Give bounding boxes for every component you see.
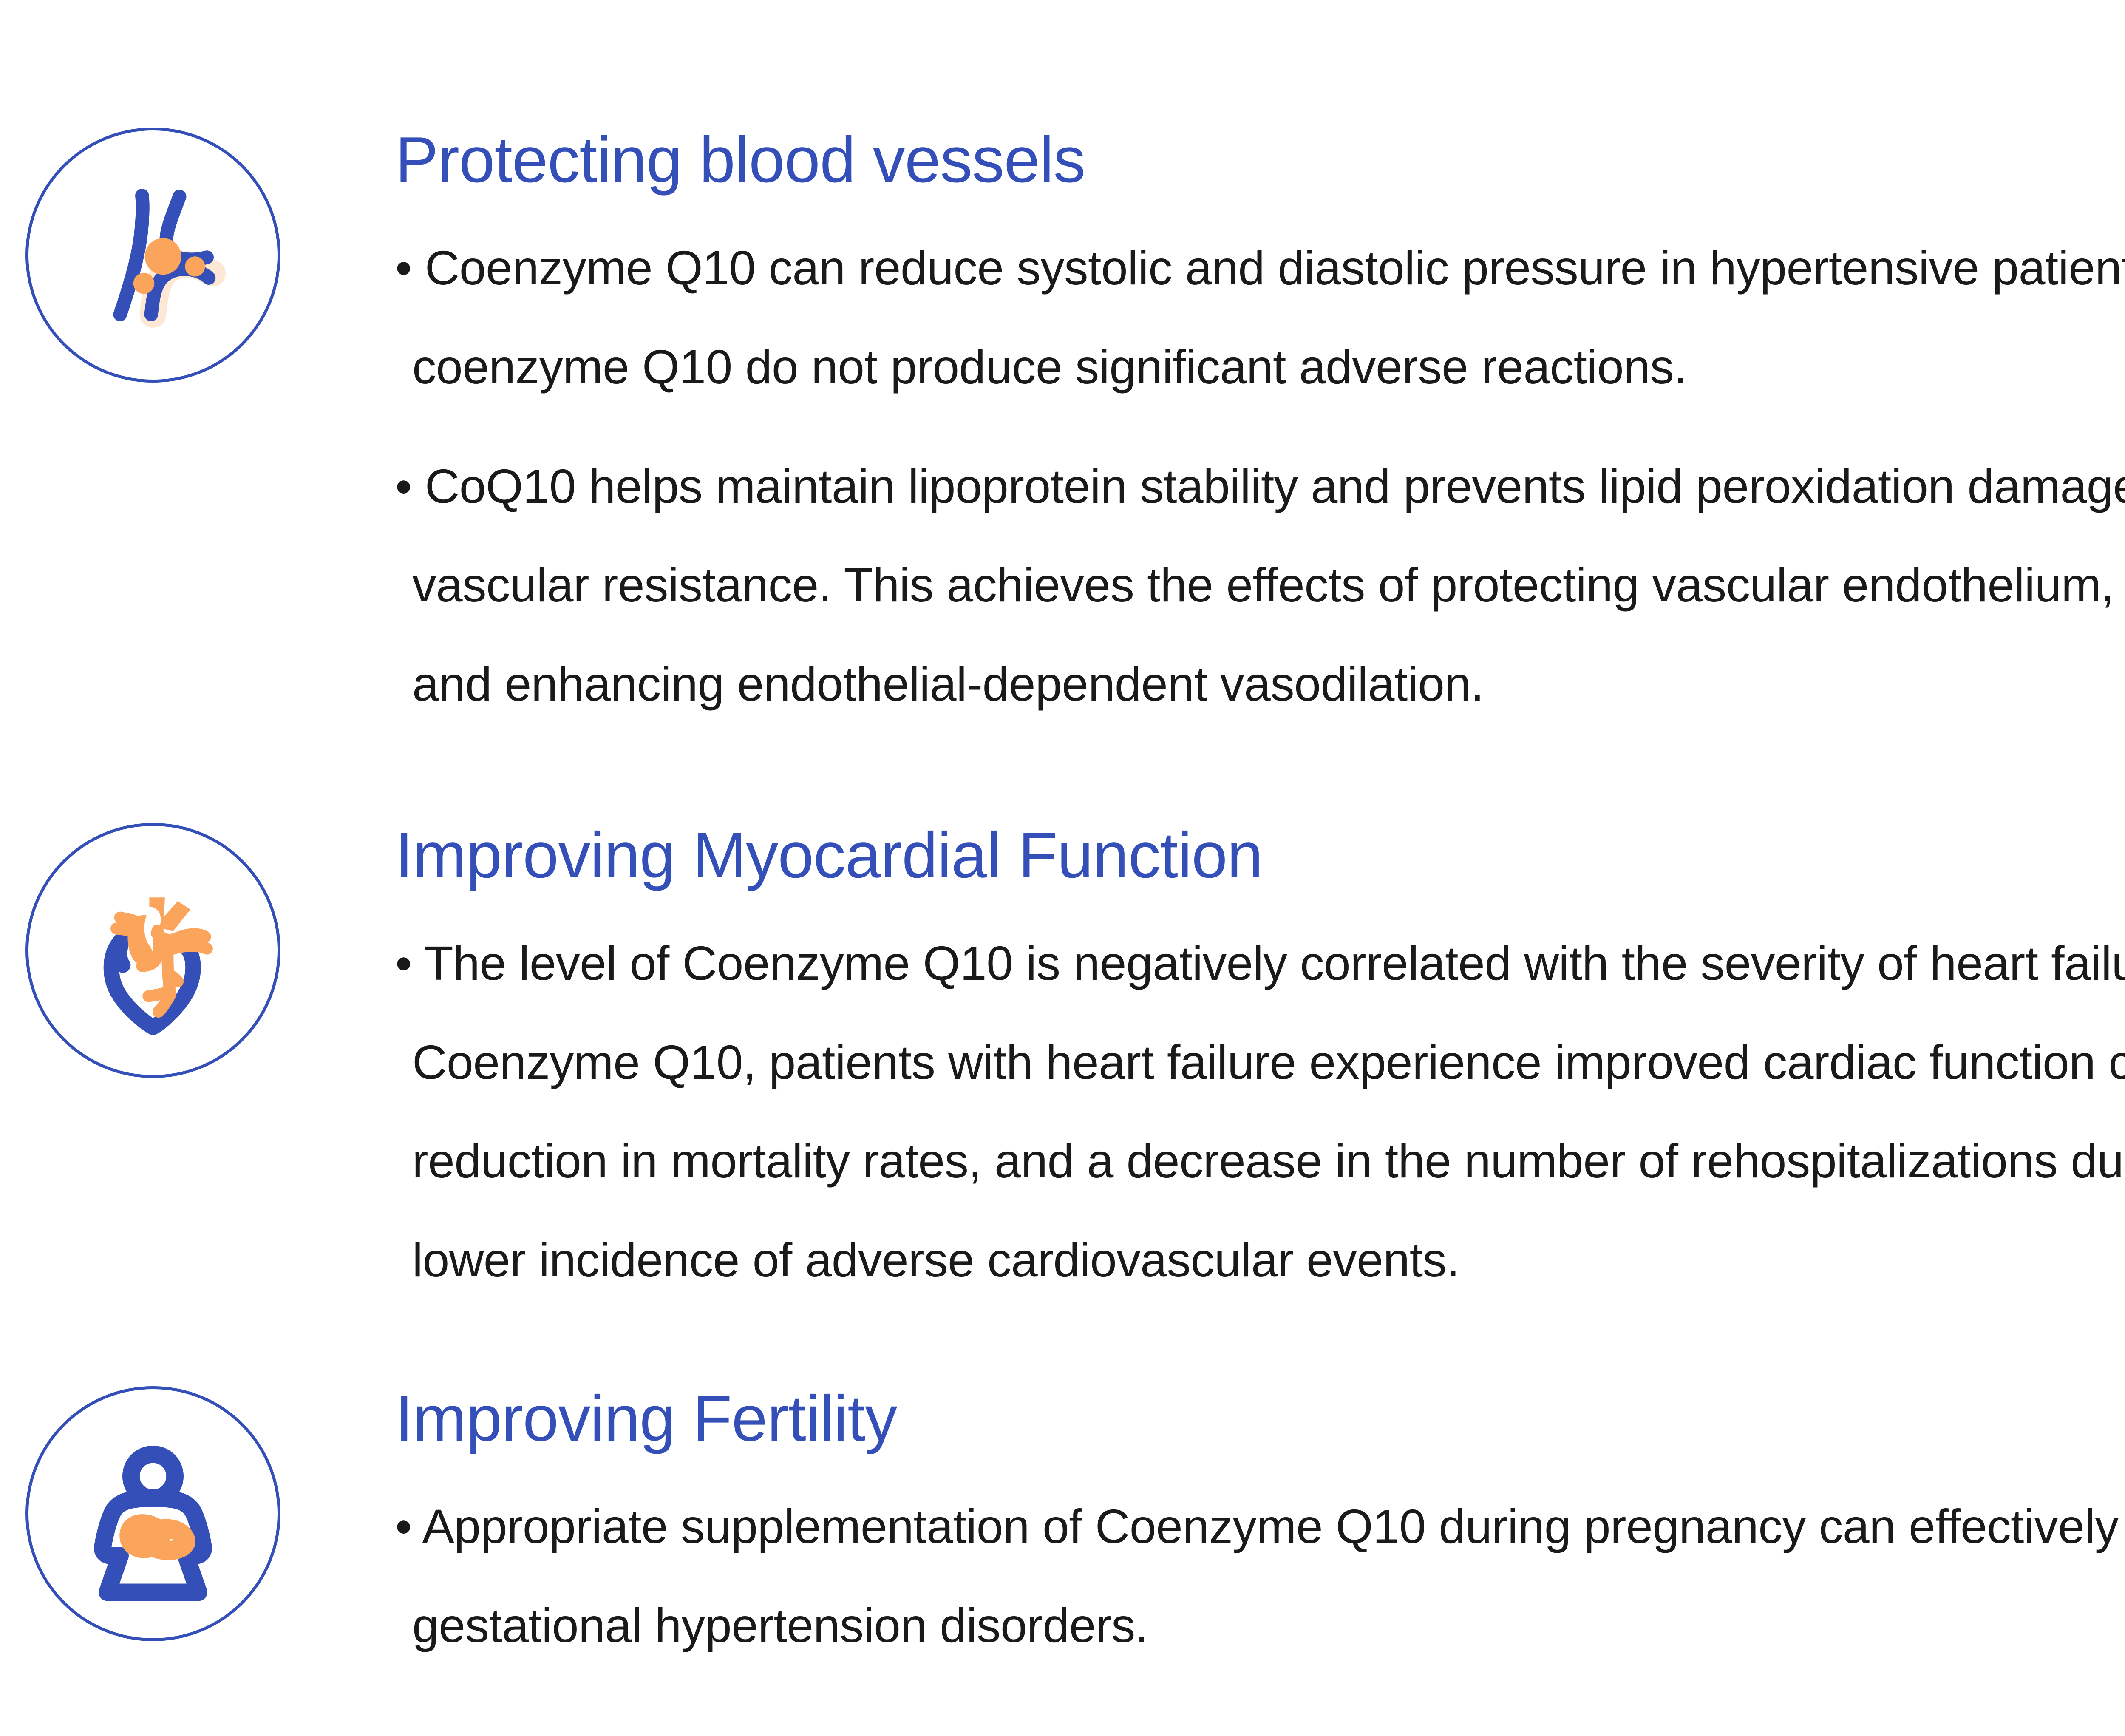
benefits-infographic: Protecting blood vessels • Coenzyme Q10 …	[0, 0, 2125, 1736]
text-column: Protecting blood vessels • Coenzyme Q10 …	[395, 128, 2125, 734]
blood-vessels-icon	[62, 164, 244, 346]
text-column: Improving Myocardial Function • The leve…	[395, 823, 2125, 1310]
icon-column	[0, 823, 395, 1078]
section-spacer	[0, 734, 2125, 823]
bullet-item: • Coenzyme Q10 can reduce systolic and d…	[395, 218, 2125, 417]
section-title-myocardial-function: Improving Myocardial Function	[395, 823, 2125, 888]
section-spacer	[0, 1310, 2125, 1386]
blood-vessels-icon-badge	[25, 128, 280, 383]
bullet-item: • Appropriate supplementation of Coenzym…	[395, 1477, 2125, 1675]
icon-column	[0, 128, 395, 383]
benefit-section-myocardial-function: Improving Myocardial Function • The leve…	[0, 823, 2125, 1310]
anatomical-heart-icon	[62, 859, 244, 1042]
section-title-blood-vessels: Protecting blood vessels	[395, 128, 2125, 192]
benefit-section-blood-vessels: Protecting blood vessels • Coenzyme Q10 …	[0, 128, 2125, 734]
anatomical-heart-icon-badge	[25, 823, 280, 1078]
text-column: Improving Fertility • Appropriate supple…	[395, 1386, 2125, 1675]
bullet-item: • The level of Coenzyme Q10 is negativel…	[395, 914, 2125, 1310]
mother-and-baby-icon-badge	[25, 1386, 280, 1641]
benefit-section-fertility: Improving Fertility • Appropriate supple…	[0, 1386, 2125, 1675]
benefit-list: Protecting blood vessels • Coenzyme Q10 …	[0, 128, 2125, 1675]
icon-column	[0, 1386, 395, 1641]
section-title-fertility: Improving Fertility	[395, 1386, 2125, 1451]
bullet-item: • CoQ10 helps maintain lipoprotein stabi…	[395, 437, 2125, 734]
mother-and-baby-icon	[62, 1422, 244, 1605]
